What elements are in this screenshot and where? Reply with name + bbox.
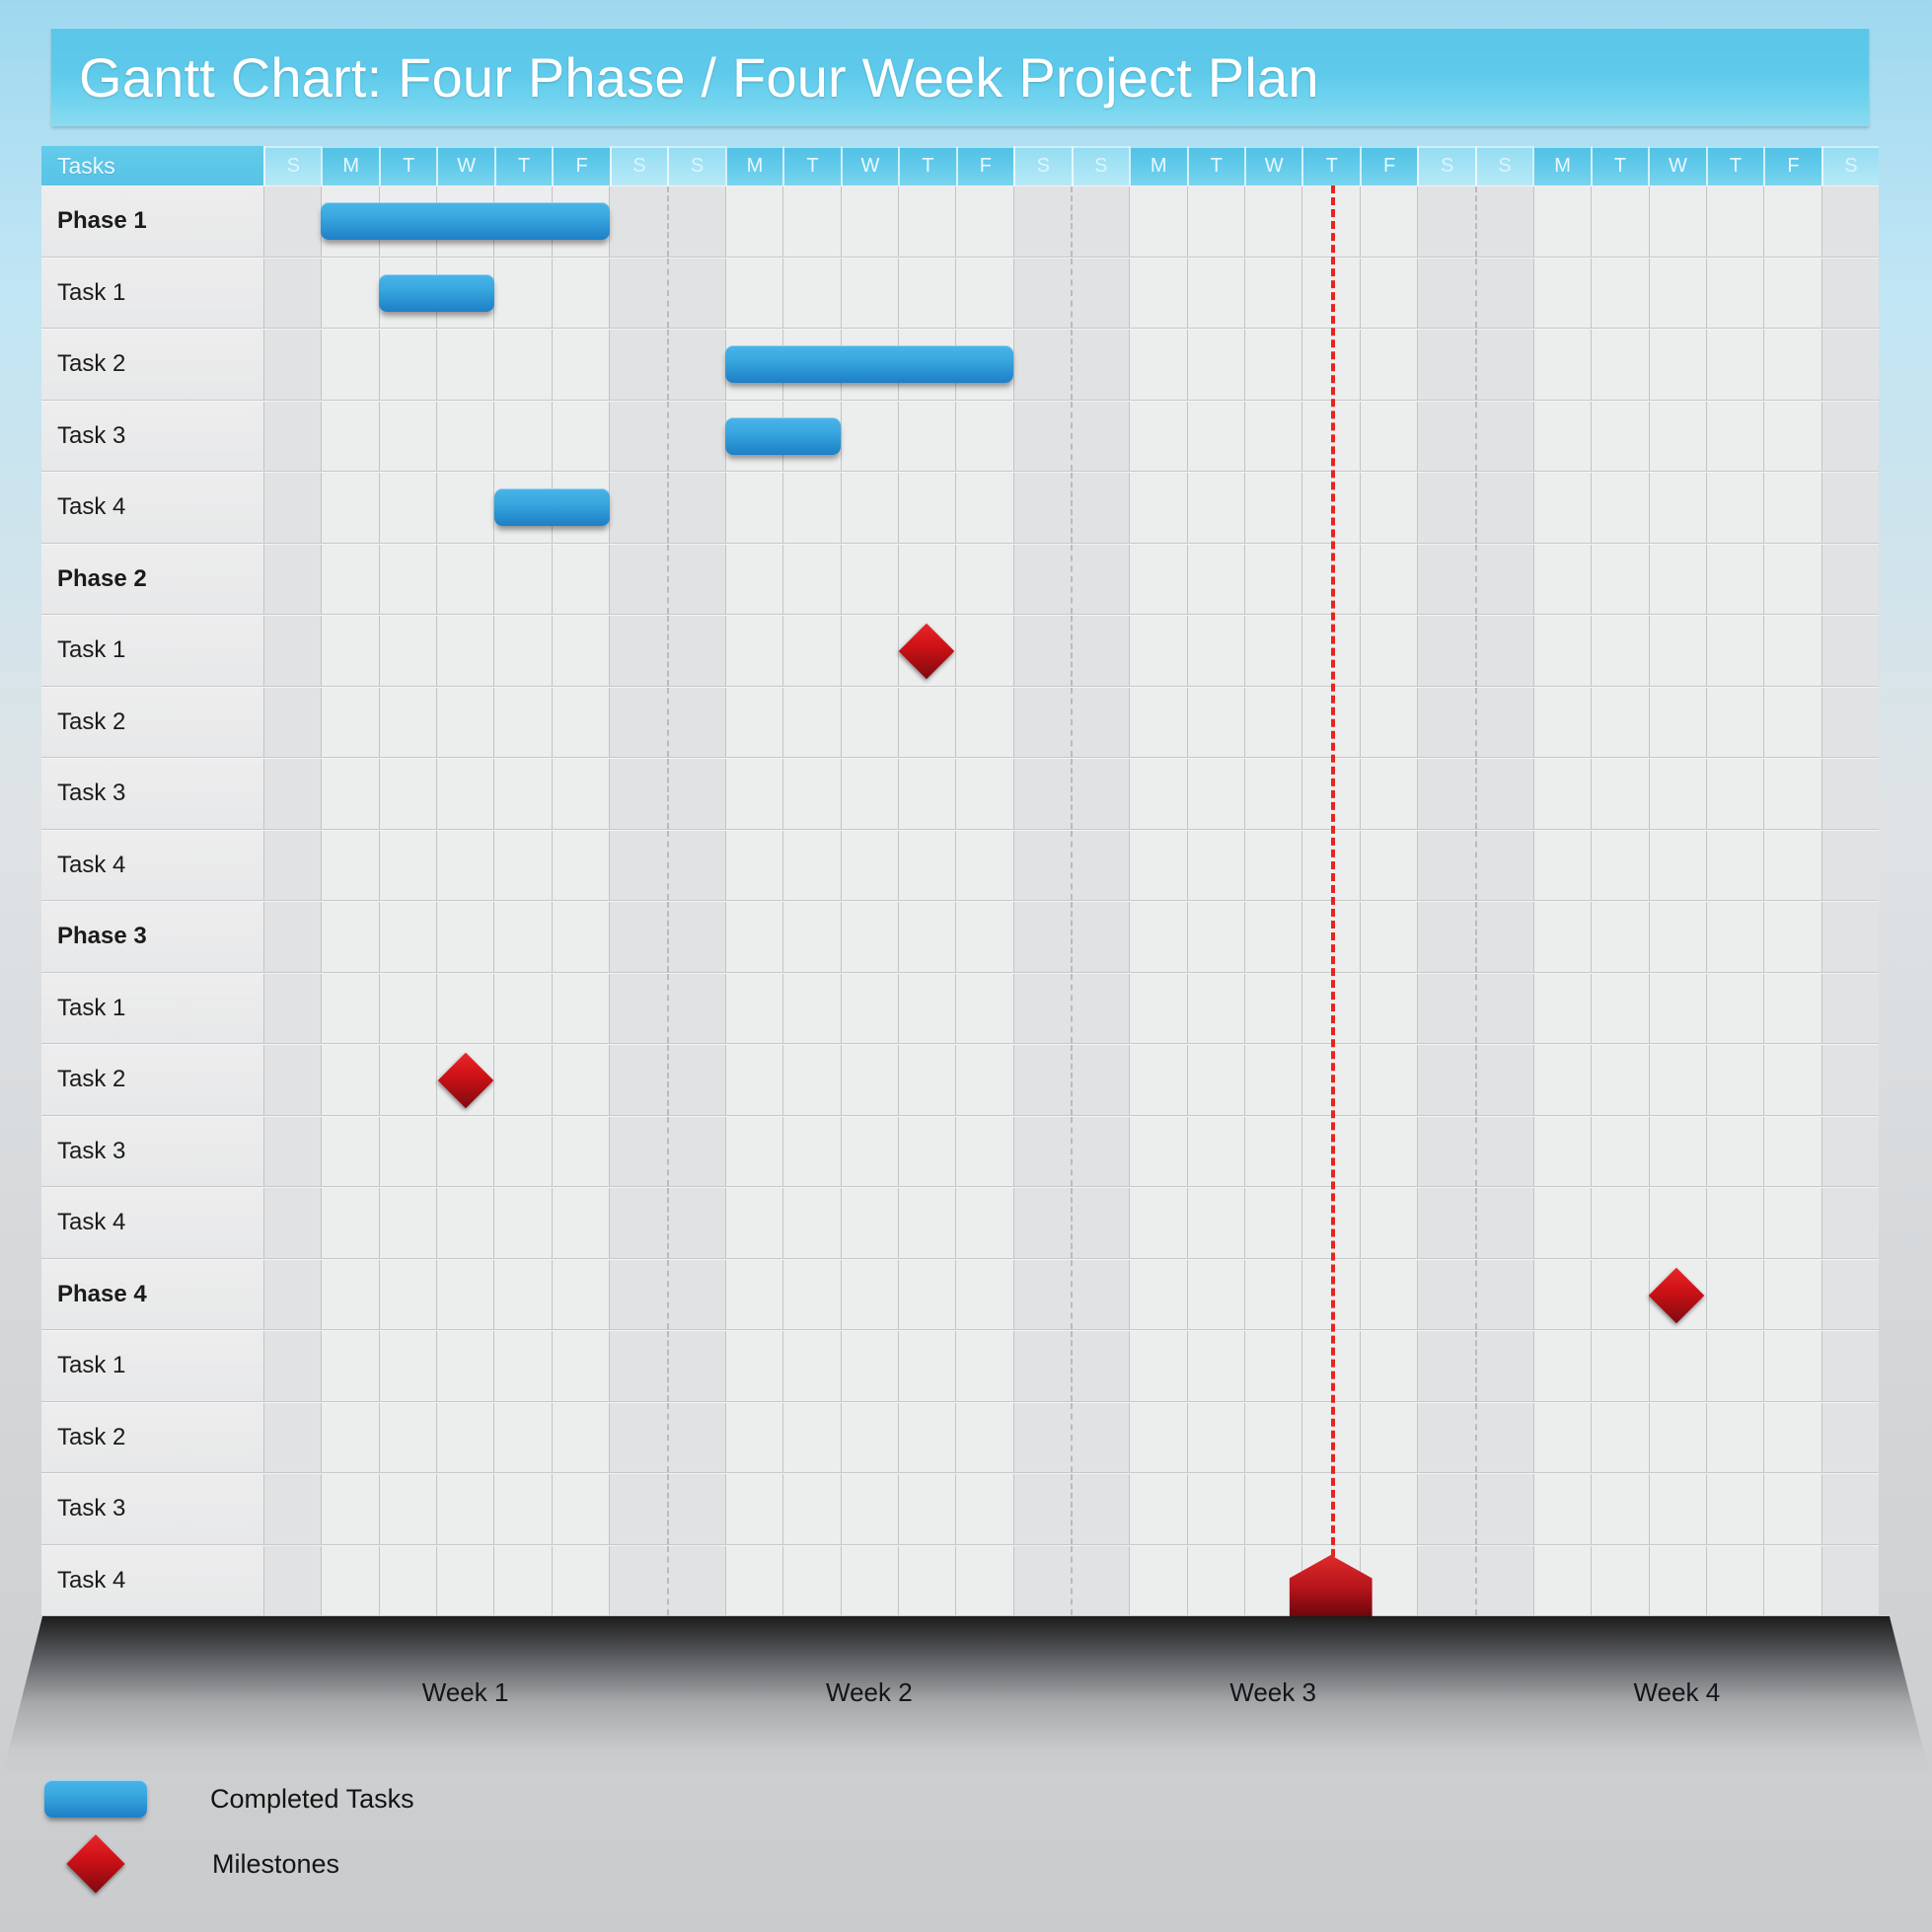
day-header-cell[interactable]: S	[1013, 146, 1071, 186]
grid-cell[interactable]	[1360, 259, 1417, 329]
task-label-row[interactable]: Task 4	[41, 830, 263, 902]
grid-cell[interactable]	[1244, 1474, 1301, 1544]
grid-cell[interactable]	[379, 1403, 436, 1473]
grid-cell[interactable]	[1763, 545, 1821, 615]
grid-cell[interactable]	[898, 902, 955, 972]
grid-cell[interactable]	[1706, 259, 1763, 329]
grid-cell[interactable]	[1244, 902, 1301, 972]
grid-cell[interactable]	[898, 1188, 955, 1258]
grid-cell[interactable]	[898, 1331, 955, 1401]
grid-cell[interactable]	[1591, 902, 1648, 972]
grid-cell[interactable]	[1591, 1260, 1648, 1330]
grid-cell[interactable]	[841, 974, 898, 1044]
grid-cell[interactable]	[1013, 831, 1071, 901]
grid-cell[interactable]	[1360, 402, 1417, 472]
grid-cell[interactable]	[1706, 186, 1763, 257]
grid-cell[interactable]	[1591, 402, 1648, 472]
grid-cell[interactable]	[609, 902, 666, 972]
grid-cell[interactable]	[841, 688, 898, 758]
grid-cell[interactable]	[1475, 1260, 1533, 1330]
grid-cell[interactable]	[841, 1045, 898, 1115]
grid-cell[interactable]	[1129, 616, 1186, 686]
grid-cell[interactable]	[1417, 402, 1474, 472]
grid-cell[interactable]	[1129, 1403, 1186, 1473]
grid-cell[interactable]	[725, 186, 782, 257]
grid-cell[interactable]	[955, 902, 1012, 972]
grid-cell[interactable]	[1475, 1546, 1533, 1616]
grid-cell[interactable]	[955, 759, 1012, 829]
grid-cell[interactable]	[667, 974, 725, 1044]
gantt-row[interactable]	[263, 901, 1879, 973]
gantt-row[interactable]	[263, 687, 1879, 759]
grid-cell[interactable]	[1763, 1403, 1821, 1473]
grid-cell[interactable]	[1360, 545, 1417, 615]
grid-cell[interactable]	[955, 974, 1012, 1044]
grid-cell[interactable]	[898, 1045, 955, 1115]
grid-cell[interactable]	[1475, 1403, 1533, 1473]
grid-cell[interactable]	[898, 1546, 955, 1616]
grid-cell[interactable]	[1013, 1331, 1071, 1401]
grid-cell[interactable]	[321, 688, 378, 758]
grid-cell[interactable]	[1013, 1260, 1071, 1330]
grid-cell[interactable]	[1821, 759, 1879, 829]
grid-cell[interactable]	[609, 1403, 666, 1473]
grid-cell[interactable]	[1187, 330, 1244, 400]
grid-cell[interactable]	[782, 1188, 840, 1258]
grid-cell[interactable]	[1649, 259, 1706, 329]
grid-cell[interactable]	[263, 759, 321, 829]
grid-cell[interactable]	[379, 974, 436, 1044]
grid-cell[interactable]	[1013, 330, 1071, 400]
grid-cell[interactable]	[321, 330, 378, 400]
grid-cell[interactable]	[898, 974, 955, 1044]
grid-cell[interactable]	[1187, 688, 1244, 758]
grid-cell[interactable]	[1475, 473, 1533, 543]
grid-cell[interactable]	[841, 831, 898, 901]
day-header-cell[interactable]: S	[1072, 146, 1129, 186]
day-header-cell[interactable]: F	[1763, 146, 1821, 186]
grid-cell[interactable]	[725, 1117, 782, 1187]
grid-cell[interactable]	[379, 616, 436, 686]
grid-cell[interactable]	[1129, 1260, 1186, 1330]
task-label-row[interactable]: Task 4	[41, 1545, 263, 1617]
grid-cell[interactable]	[1013, 1474, 1071, 1544]
grid-cell[interactable]	[609, 831, 666, 901]
grid-cell[interactable]	[1360, 1474, 1417, 1544]
grid-cell[interactable]	[1533, 186, 1591, 257]
grid-cell[interactable]	[1649, 974, 1706, 1044]
grid-cell[interactable]	[321, 616, 378, 686]
grid-cell[interactable]	[1071, 1117, 1129, 1187]
grid-cell[interactable]	[493, 259, 551, 329]
grid-cell[interactable]	[1475, 402, 1533, 472]
grid-cell[interactable]	[725, 1546, 782, 1616]
grid-cell[interactable]	[1591, 1045, 1648, 1115]
grid-cell[interactable]	[379, 902, 436, 972]
grid-cell[interactable]	[1533, 1546, 1591, 1616]
grid-cell[interactable]	[1013, 1546, 1071, 1616]
grid-cell[interactable]	[1533, 1474, 1591, 1544]
grid-cell[interactable]	[321, 1117, 378, 1187]
grid-cell[interactable]	[1417, 1331, 1474, 1401]
grid-cell[interactable]	[1706, 1188, 1763, 1258]
grid-cell[interactable]	[379, 1188, 436, 1258]
grid-cell[interactable]	[1244, 259, 1301, 329]
grid-cell[interactable]	[1475, 831, 1533, 901]
grid-cell[interactable]	[1591, 688, 1648, 758]
grid-cell[interactable]	[1533, 1403, 1591, 1473]
day-header-cell[interactable]: W	[1648, 146, 1705, 186]
grid-cell[interactable]	[1706, 1474, 1763, 1544]
grid-cell[interactable]	[321, 1546, 378, 1616]
grid-cell[interactable]	[1071, 1331, 1129, 1401]
day-header-cell[interactable]: S	[667, 146, 724, 186]
grid-cell[interactable]	[263, 616, 321, 686]
grid-cell[interactable]	[1013, 545, 1071, 615]
grid-cell[interactable]	[1649, 1188, 1706, 1258]
day-header-cell[interactable]: M	[1532, 146, 1590, 186]
grid-cell[interactable]	[667, 1474, 725, 1544]
task-label-row[interactable]: Task 1	[41, 973, 263, 1045]
grid-cell[interactable]	[667, 1546, 725, 1616]
day-header-cell[interactable]: W	[1244, 146, 1301, 186]
grid-cell[interactable]	[1417, 1188, 1474, 1258]
grid-cell[interactable]	[1013, 1045, 1071, 1115]
day-header-cell[interactable]: F	[956, 146, 1013, 186]
grid-cell[interactable]	[609, 1331, 666, 1401]
grid-cell[interactable]	[1187, 616, 1244, 686]
grid-cell[interactable]	[1013, 1117, 1071, 1187]
grid-cell[interactable]	[1649, 616, 1706, 686]
grid-cell[interactable]	[552, 1260, 609, 1330]
grid-cell[interactable]	[1475, 759, 1533, 829]
grid-cell[interactable]	[552, 688, 609, 758]
grid-cell[interactable]	[1360, 974, 1417, 1044]
grid-cell[interactable]	[552, 330, 609, 400]
grid-cell[interactable]	[1244, 616, 1301, 686]
grid-cell[interactable]	[436, 974, 493, 1044]
grid-cell[interactable]	[1244, 688, 1301, 758]
grid-cell[interactable]	[955, 1331, 1012, 1401]
grid-cell[interactable]	[898, 473, 955, 543]
grid-cell[interactable]	[436, 545, 493, 615]
grid-cell[interactable]	[263, 1188, 321, 1258]
grid-cell[interactable]	[493, 1188, 551, 1258]
grid-cell[interactable]	[1821, 473, 1879, 543]
grid-cell[interactable]	[955, 259, 1012, 329]
grid-cell[interactable]	[321, 473, 378, 543]
grid-cell[interactable]	[1071, 402, 1129, 472]
grid-cell[interactable]	[493, 1045, 551, 1115]
grid-cell[interactable]	[1013, 616, 1071, 686]
grid-cell[interactable]	[955, 402, 1012, 472]
grid-cell[interactable]	[1244, 974, 1301, 1044]
grid-cell[interactable]	[1129, 545, 1186, 615]
grid-cell[interactable]	[1591, 186, 1648, 257]
grid-cell[interactable]	[782, 974, 840, 1044]
grid-cell[interactable]	[493, 545, 551, 615]
gantt-row[interactable]	[263, 830, 1879, 902]
grid-cell[interactable]	[321, 1403, 378, 1473]
grid-cell[interactable]	[1821, 330, 1879, 400]
grid-cell[interactable]	[955, 688, 1012, 758]
day-header-cell[interactable]: T	[379, 146, 436, 186]
grid-cell[interactable]	[1591, 545, 1648, 615]
grid-cell[interactable]	[1187, 473, 1244, 543]
grid-cell[interactable]	[1013, 1188, 1071, 1258]
grid-cell[interactable]	[1821, 1045, 1879, 1115]
grid-cell[interactable]	[1591, 1331, 1648, 1401]
grid-cell[interactable]	[898, 259, 955, 329]
grid-cell[interactable]	[1706, 1546, 1763, 1616]
grid-cell[interactable]	[1244, 1260, 1301, 1330]
grid-cell[interactable]	[1360, 1045, 1417, 1115]
grid-cell[interactable]	[898, 688, 955, 758]
grid-cell[interactable]	[263, 1474, 321, 1544]
phase-label-row[interactable]: Phase 4	[41, 1259, 263, 1331]
grid-cell[interactable]	[1187, 1188, 1244, 1258]
grid-cell[interactable]	[725, 1474, 782, 1544]
grid-cell[interactable]	[1417, 259, 1474, 329]
grid-cell[interactable]	[1533, 974, 1591, 1044]
grid-cell[interactable]	[436, 1188, 493, 1258]
grid-cell[interactable]	[321, 402, 378, 472]
grid-cell[interactable]	[725, 831, 782, 901]
day-header-cell[interactable]: W	[436, 146, 493, 186]
grid-cell[interactable]	[1071, 186, 1129, 257]
grid-cell[interactable]	[552, 1474, 609, 1544]
grid-cell[interactable]	[1763, 1331, 1821, 1401]
grid-cell[interactable]	[263, 1546, 321, 1616]
grid-cell[interactable]	[1591, 473, 1648, 543]
grid-cell[interactable]	[667, 688, 725, 758]
grid-cell[interactable]	[1763, 1045, 1821, 1115]
day-header-cell[interactable]: T	[782, 146, 840, 186]
task-label-row[interactable]: Task 1	[41, 1330, 263, 1402]
gantt-row[interactable]	[263, 1044, 1879, 1116]
task-label-row[interactable]: Task 1	[41, 615, 263, 687]
grid-cell[interactable]	[782, 1546, 840, 1616]
grid-cell[interactable]	[1706, 545, 1763, 615]
grid-cell[interactable]	[782, 1260, 840, 1330]
grid-cell[interactable]	[1071, 1474, 1129, 1544]
grid-cell[interactable]	[1360, 902, 1417, 972]
grid-cell[interactable]	[1706, 1260, 1763, 1330]
task-bar[interactable]	[725, 345, 1013, 383]
grid-cell[interactable]	[725, 616, 782, 686]
grid-cell[interactable]	[782, 186, 840, 257]
gantt-row[interactable]	[263, 544, 1879, 616]
grid-cell[interactable]	[1129, 831, 1186, 901]
grid-cell[interactable]	[841, 902, 898, 972]
grid-cell[interactable]	[1244, 330, 1301, 400]
day-header-cell[interactable]: M	[1129, 146, 1186, 186]
grid-cell[interactable]	[667, 330, 725, 400]
grid-cell[interactable]	[1360, 759, 1417, 829]
grid-cell[interactable]	[1360, 1260, 1417, 1330]
grid-cell[interactable]	[1763, 974, 1821, 1044]
grid-cell[interactable]	[1417, 759, 1474, 829]
grid-cell[interactable]	[1360, 1188, 1417, 1258]
grid-cell[interactable]	[782, 616, 840, 686]
grid-cell[interactable]	[1071, 473, 1129, 543]
grid-cell[interactable]	[725, 473, 782, 543]
gantt-row[interactable]	[263, 758, 1879, 830]
grid-cell[interactable]	[1821, 1403, 1879, 1473]
grid-cell[interactable]	[493, 902, 551, 972]
grid-cell[interactable]	[898, 186, 955, 257]
grid-cell[interactable]	[379, 759, 436, 829]
grid-cell[interactable]	[1187, 831, 1244, 901]
grid-cell[interactable]	[1763, 1474, 1821, 1544]
grid-cell[interactable]	[263, 1403, 321, 1473]
grid-cell[interactable]	[955, 1045, 1012, 1115]
grid-cell[interactable]	[1649, 545, 1706, 615]
grid-cell[interactable]	[725, 974, 782, 1044]
grid-cell[interactable]	[725, 759, 782, 829]
grid-cell[interactable]	[321, 831, 378, 901]
grid-cell[interactable]	[725, 1403, 782, 1473]
grid-cell[interactable]	[1360, 831, 1417, 901]
grid-cell[interactable]	[1129, 330, 1186, 400]
grid-cell[interactable]	[609, 616, 666, 686]
grid-cell[interactable]	[725, 1045, 782, 1115]
grid-cell[interactable]	[955, 473, 1012, 543]
grid-cell[interactable]	[1417, 1117, 1474, 1187]
grid-cell[interactable]	[1649, 1546, 1706, 1616]
grid-cell[interactable]	[841, 1403, 898, 1473]
grid-cell[interactable]	[379, 473, 436, 543]
grid-cell[interactable]	[436, 330, 493, 400]
grid-cell[interactable]	[1417, 1403, 1474, 1473]
grid-cell[interactable]	[379, 1474, 436, 1544]
grid-cell[interactable]	[1706, 1117, 1763, 1187]
grid-cell[interactable]	[667, 186, 725, 257]
grid-cell[interactable]	[1417, 1546, 1474, 1616]
grid-cell[interactable]	[1129, 759, 1186, 829]
grid-cell[interactable]	[1475, 186, 1533, 257]
grid-cell[interactable]	[667, 1045, 725, 1115]
task-label-row[interactable]: Task 4	[41, 472, 263, 544]
grid-cell[interactable]	[1071, 759, 1129, 829]
grid-cell[interactable]	[379, 1117, 436, 1187]
grid-cell[interactable]	[1821, 974, 1879, 1044]
grid-cell[interactable]	[552, 259, 609, 329]
task-bar[interactable]	[725, 417, 841, 455]
grid-cell[interactable]	[609, 1045, 666, 1115]
grid-cell[interactable]	[552, 1045, 609, 1115]
grid-cell[interactable]	[1129, 1188, 1186, 1258]
grid-cell[interactable]	[1244, 1045, 1301, 1115]
grid-cell[interactable]	[1417, 1260, 1474, 1330]
grid-cell[interactable]	[725, 545, 782, 615]
grid-cell[interactable]	[1821, 616, 1879, 686]
grid-cell[interactable]	[493, 759, 551, 829]
grid-cell[interactable]	[1244, 1331, 1301, 1401]
phase-label-row[interactable]: Phase 3	[41, 901, 263, 973]
grid-cell[interactable]	[321, 1188, 378, 1258]
day-header-cell[interactable]: M	[321, 146, 378, 186]
grid-cell[interactable]	[1591, 259, 1648, 329]
day-header-cell[interactable]: S	[1475, 146, 1532, 186]
grid-cell[interactable]	[1417, 330, 1474, 400]
grid-cell[interactable]	[1591, 1403, 1648, 1473]
grid-cell[interactable]	[1417, 186, 1474, 257]
grid-cell[interactable]	[379, 402, 436, 472]
grid-cell[interactable]	[1187, 186, 1244, 257]
grid-cell[interactable]	[609, 545, 666, 615]
grid-cell[interactable]	[1071, 1403, 1129, 1473]
grid-cell[interactable]	[321, 974, 378, 1044]
task-label-row[interactable]: Task 1	[41, 258, 263, 330]
grid-cell[interactable]	[1417, 688, 1474, 758]
grid-cell[interactable]	[436, 616, 493, 686]
grid-cell[interactable]	[1706, 1331, 1763, 1401]
grid-cell[interactable]	[782, 1474, 840, 1544]
grid-cell[interactable]	[782, 759, 840, 829]
grid-cell[interactable]	[1187, 259, 1244, 329]
grid-cell[interactable]	[1129, 1117, 1186, 1187]
grid-cell[interactable]	[1417, 1474, 1474, 1544]
grid-cell[interactable]	[436, 473, 493, 543]
grid-cell[interactable]	[1013, 402, 1071, 472]
grid-cell[interactable]	[1013, 759, 1071, 829]
grid-cell[interactable]	[898, 402, 955, 472]
grid-cell[interactable]	[955, 1474, 1012, 1544]
grid-cell[interactable]	[1244, 186, 1301, 257]
grid-cell[interactable]	[725, 1331, 782, 1401]
grid-cell[interactable]	[1360, 1403, 1417, 1473]
task-label-row[interactable]: Task 3	[41, 1473, 263, 1545]
grid-cell[interactable]	[1187, 1045, 1244, 1115]
grid-cell[interactable]	[1475, 330, 1533, 400]
grid-cell[interactable]	[1187, 902, 1244, 972]
grid-cell[interactable]	[609, 330, 666, 400]
grid-cell[interactable]	[552, 545, 609, 615]
grid-cell[interactable]	[1071, 330, 1129, 400]
grid-cell[interactable]	[609, 1474, 666, 1544]
gantt-row[interactable]	[263, 1545, 1879, 1617]
grid-cell[interactable]	[782, 1403, 840, 1473]
grid-cell[interactable]	[321, 1331, 378, 1401]
grid-cell[interactable]	[1129, 402, 1186, 472]
grid-cell[interactable]	[1763, 402, 1821, 472]
grid-cell[interactable]	[725, 688, 782, 758]
grid-cell[interactable]	[1244, 1188, 1301, 1258]
grid-cell[interactable]	[1649, 1474, 1706, 1544]
grid-cell[interactable]	[1013, 473, 1071, 543]
grid-cell[interactable]	[1187, 1331, 1244, 1401]
grid-cell[interactable]	[1649, 402, 1706, 472]
grid-cell[interactable]	[667, 759, 725, 829]
grid-cell[interactable]	[667, 402, 725, 472]
grid-cell[interactable]	[321, 759, 378, 829]
grid-cell[interactable]	[1071, 1260, 1129, 1330]
grid-cell[interactable]	[1013, 974, 1071, 1044]
task-label-row[interactable]: Task 4	[41, 1187, 263, 1259]
grid-cell[interactable]	[1533, 330, 1591, 400]
day-header-cell[interactable]: F	[552, 146, 609, 186]
grid-cell[interactable]	[1129, 902, 1186, 972]
grid-cell[interactable]	[1533, 831, 1591, 901]
day-header-cell[interactable]: T	[1301, 146, 1359, 186]
day-header-cell[interactable]: S	[610, 146, 667, 186]
grid-cell[interactable]	[1244, 473, 1301, 543]
grid-cell[interactable]	[263, 1045, 321, 1115]
grid-cell[interactable]	[1071, 1546, 1129, 1616]
grid-cell[interactable]	[552, 759, 609, 829]
grid-cell[interactable]	[1417, 616, 1474, 686]
